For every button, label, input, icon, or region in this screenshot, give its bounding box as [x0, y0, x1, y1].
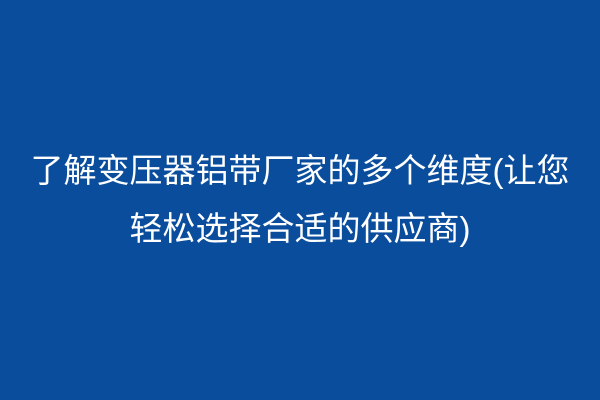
banner-title: 了解变压器铝带厂家的多个维度(让您轻松选择合适的供应商) — [24, 142, 576, 258]
banner-card: 了解变压器铝带厂家的多个维度(让您轻松选择合适的供应商) — [0, 0, 600, 400]
title-block: 了解变压器铝带厂家的多个维度(让您轻松选择合适的供应商) — [0, 142, 600, 258]
